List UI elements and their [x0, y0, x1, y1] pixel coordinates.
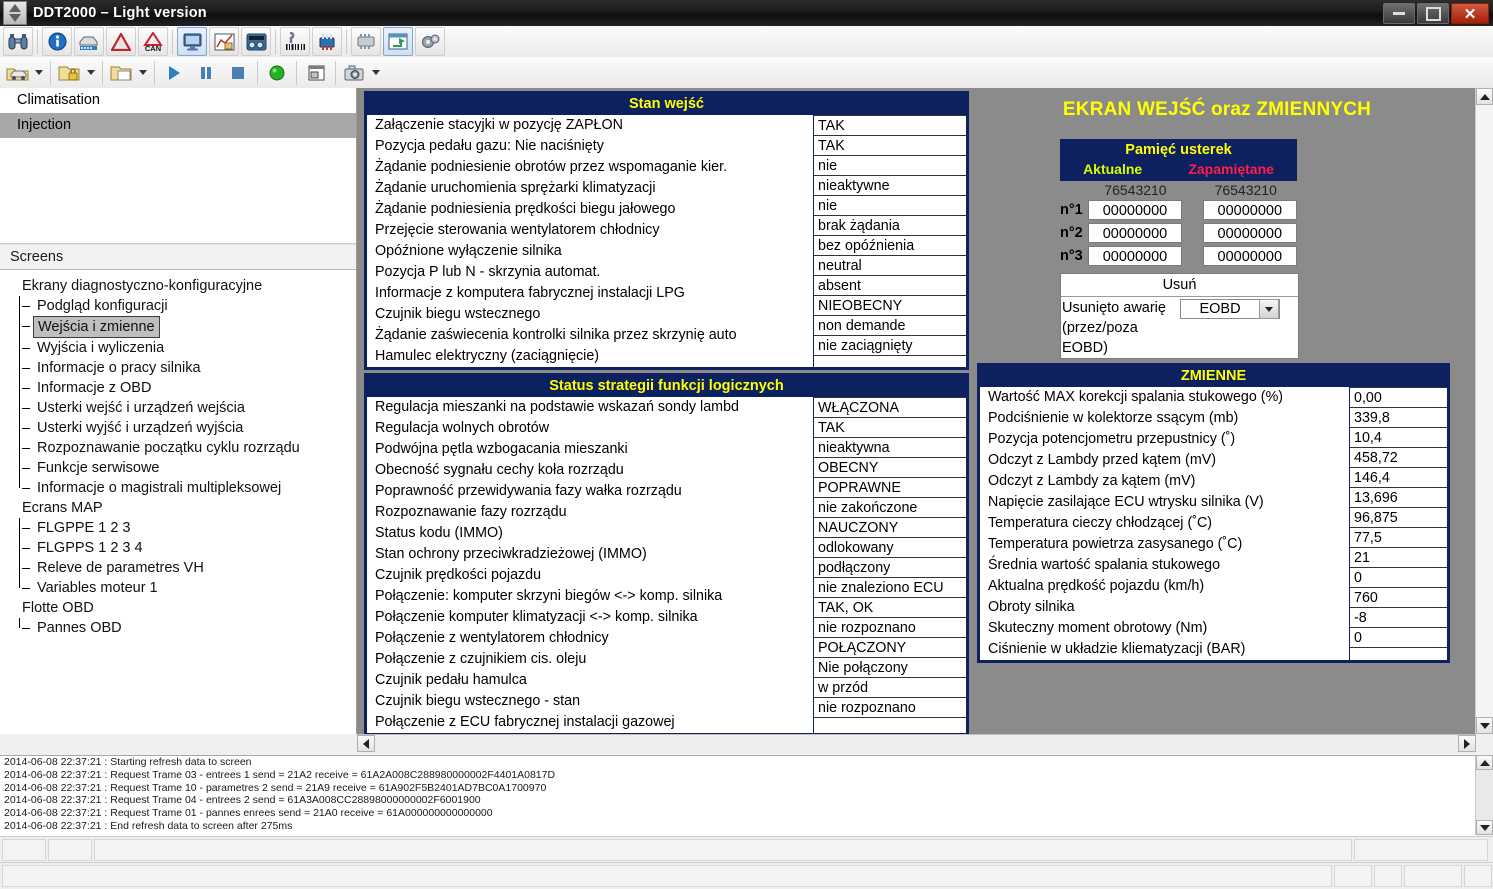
- inputs-row-label: Pozycja pedału gazu: Nie naciśnięty: [367, 136, 813, 157]
- connector-icon[interactable]: [312, 27, 342, 56]
- inputs-label-column: Załączenie stacyjki w pozycję ZAPŁON Poz…: [367, 115, 813, 367]
- logic-row-label: Regulacja wolnych obrotów: [367, 418, 813, 439]
- tree-item-label: Wejścia i zmienne: [33, 316, 160, 338]
- logic-panel-body: Regulacja mieszanki na podstawie wskazań…: [367, 397, 966, 733]
- window-layout-icon[interactable]: [301, 58, 331, 87]
- logic-row-label: Podwójna pętla wzbogacania mieszanki: [367, 439, 813, 460]
- warning-icon[interactable]: [106, 27, 136, 56]
- logic-row-label: Regulacja mieszanki na podstawie wskazań…: [367, 397, 813, 418]
- log-line: 2014-06-08 22:37:21 : Request Trame 03 -…: [0, 769, 1476, 782]
- log-scroll-up-button[interactable]: [1476, 755, 1493, 770]
- inputs-row-value: neutral: [814, 255, 966, 276]
- tree-group-ecrans-map: FLGPPE 1 2 3 FLGPPS 1 2 3 4 Releve de pa…: [0, 518, 356, 598]
- log-line: 2014-06-08 22:37:21 : Request Trame 04 -…: [0, 794, 1476, 807]
- fault-memory-current-field[interactable]: 00000000: [1088, 246, 1182, 266]
- variables-panel: ZMIENNE Wartość MAX korekcji spalania st…: [977, 363, 1450, 663]
- left-sidebar: Climatisation Injection Screens Ekrany d…: [0, 88, 357, 734]
- main-toolbar: CAN: [0, 26, 1493, 58]
- tree-item-pannes-obd[interactable]: Pannes OBD: [22, 618, 356, 638]
- tree-item-label: Informacje o pracy silnika: [34, 358, 204, 378]
- tree-group-flotte-obd: Pannes OBD: [0, 618, 356, 638]
- main-horizontal-scrollbar[interactable]: [357, 734, 1476, 753]
- inputs-row-label: Hamulec elektryczny (zaciągnięcie): [367, 346, 813, 367]
- clear-faults-row: Usunięto awarię (przez/poza EOBD) EOBD: [1061, 297, 1298, 358]
- inputs-row-label: Przejęcie sterowania wentylatorem chłodn…: [367, 220, 813, 241]
- status-led-icon[interactable]: [262, 58, 292, 87]
- logic-row-value: OBECNY: [814, 457, 966, 478]
- status-bar-lower: [0, 862, 1493, 889]
- inputs-row-label: Informacje z komputera fabrycznej instal…: [367, 283, 813, 304]
- logic-row-label: Status kodu (IMMO): [367, 523, 813, 544]
- chevron-down-icon[interactable]: [139, 70, 147, 75]
- status-cell: [1404, 865, 1462, 887]
- logic-row-label: Poprawność przewidywania fazy wałka rozr…: [367, 481, 813, 502]
- logic-row-value: TAK, OK: [814, 597, 966, 618]
- inputs-row-value: TAK: [814, 135, 966, 156]
- gauges-icon[interactable]: [241, 27, 271, 56]
- tree-item-usterki-wyjsc[interactable]: Usterki wyjść i urządzeń wyjścia: [22, 418, 356, 438]
- logic-row-value: TAK: [814, 417, 966, 438]
- variables-row-label: Podciśnienie w kolektorze ssącym (mb): [980, 408, 1349, 429]
- status-cell: [1334, 865, 1372, 887]
- inputs-row-label: Czujnik biegu wstecznego: [367, 304, 813, 325]
- variables-row-value: 146,4: [1350, 467, 1447, 488]
- logic-row-value: POŁĄCZONY: [814, 637, 966, 658]
- status-bar-upper: [0, 836, 1493, 863]
- toolbar-separator: [151, 61, 158, 85]
- inputs-row-value: nie: [814, 155, 966, 176]
- info-icon[interactable]: [42, 27, 72, 56]
- fault-memory-row: n°1 00000000 00000000: [1060, 199, 1297, 220]
- toolbar-separator: [272, 30, 279, 54]
- vertical-scroll-track[interactable]: [1476, 105, 1493, 717]
- inputs-row-value: NIEOBECNY: [814, 295, 966, 316]
- scroll-left-button[interactable]: [357, 735, 375, 752]
- toolbar-separator: [343, 30, 350, 54]
- gears-icon[interactable]: [415, 27, 445, 56]
- inputs-panel-title: Stan wejść: [367, 94, 966, 115]
- variables-row-label: Odczyt z Lambdy za kątem (mV): [980, 471, 1349, 492]
- app-logo-icon: [3, 1, 27, 25]
- tree-item-label: Variables moteur 1: [34, 578, 161, 598]
- status-cell: [2, 839, 46, 861]
- tree-item-podglad-konfiguracji[interactable]: Podgląd konfiguracji: [22, 296, 356, 316]
- logic-row-label: Połączenie z czujnikiem cis. oleju: [367, 649, 813, 670]
- ecu-list[interactable]: Climatisation Injection: [0, 88, 356, 244]
- screens-section-header: Screens: [0, 244, 356, 270]
- open-vehicle-icon[interactable]: [3, 58, 33, 87]
- can-warning-icon[interactable]: CAN: [138, 27, 168, 56]
- fault-memory-stored-field[interactable]: 00000000: [1203, 223, 1297, 243]
- bit-header-left: 76543210: [1084, 181, 1187, 199]
- variables-panel-title: ZMIENNE: [980, 366, 1447, 387]
- pause-icon[interactable]: [191, 58, 221, 87]
- log-line: 2014-06-08 22:37:21 : Request Trame 10 -…: [0, 782, 1476, 795]
- fault-memory-title: Pamięć usterek: [1060, 141, 1297, 160]
- tree-item-label: Releve de parametres VH: [34, 558, 207, 578]
- logic-panel-title: Status strategii funkcji logicznych: [367, 376, 966, 397]
- inputs-row-value: absent: [814, 275, 966, 296]
- inputs-row-value: bez opóźnienia: [814, 235, 966, 256]
- stop-icon[interactable]: [223, 58, 253, 87]
- logic-row-value: w przód: [814, 677, 966, 698]
- tree-item-wyjscia-i-wyliczenia[interactable]: Wyjścia i wyliczenia: [22, 338, 356, 358]
- logic-row-value: nie znaleziono ECU: [814, 577, 966, 598]
- variables-row-value: 458,72: [1350, 447, 1447, 468]
- inputs-row-value: non demande: [814, 315, 966, 336]
- logic-row-value: nieaktywna: [814, 437, 966, 458]
- fault-memory-bit-headers: 76543210 76543210: [1060, 181, 1297, 199]
- logic-label-column: Regulacja mieszanki na podstawie wskazań…: [367, 397, 813, 733]
- variables-row-value: 21: [1350, 547, 1447, 568]
- tree-item-label: FLGPPE 1 2 3: [34, 518, 134, 538]
- variables-row-value: 339,8: [1350, 407, 1447, 428]
- tree-item-label: Podgląd konfiguracji: [34, 296, 171, 316]
- log-line: 2014-06-08 22:37:21 : Starting refresh d…: [0, 756, 1476, 769]
- variables-row-value: 10,4: [1350, 427, 1447, 448]
- tree-item-label: Informacje z OBD: [34, 378, 154, 398]
- tree-item-variables-moteur[interactable]: Variables moteur 1: [22, 578, 356, 598]
- logic-row-value: odlokowany: [814, 537, 966, 558]
- logic-row-label: Rozpoznawanie fazy rozrządu: [367, 502, 813, 523]
- clear-mode-dropdown-value: EOBD: [1181, 301, 1259, 317]
- scroll-up-button[interactable]: [1476, 88, 1493, 105]
- fault-memory-columns: Aktualne Zapamiętane: [1060, 160, 1297, 178]
- tree-item-rozpoznawanie-poczatku-cyklu[interactable]: Rozpoznawanie początku cyklu rozrządu: [22, 438, 356, 458]
- panels-column: Stan wejść Załączenie stacyjki w pozycję…: [364, 91, 969, 734]
- open-folder-icon[interactable]: [107, 58, 137, 87]
- log-console[interactable]: 2014-06-08 22:37:21 : Starting refresh d…: [0, 755, 1476, 836]
- close-button[interactable]: ✕: [1451, 3, 1489, 24]
- variables-row-label: Średnia wartość spalania stukowego: [980, 555, 1349, 576]
- variables-row-value: 0: [1350, 567, 1447, 588]
- fault-memory-col-current: Aktualne: [1083, 160, 1142, 178]
- chevron-down-icon[interactable]: [35, 70, 43, 75]
- status-cell: [1374, 865, 1402, 887]
- tree-item-wejscia-i-zmienne[interactable]: Wejścia i zmienne: [22, 316, 356, 338]
- log-line: 2014-06-08 22:37:21 : Request Trame 01 -…: [0, 807, 1476, 820]
- variables-row-label: Temperatura cieczy chłodzącej (˚C): [980, 513, 1349, 534]
- logic-row-value: WŁĄCZONA: [814, 397, 966, 418]
- variables-row-value: -8: [1350, 607, 1447, 628]
- ddt2000-window: DDT2000 – Light version ✕: [0, 0, 1493, 888]
- chevron-down-icon[interactable]: [87, 70, 95, 75]
- tree-item-label: Wyjścia i wyliczenia: [34, 338, 167, 358]
- toolbar-separator: [99, 61, 106, 85]
- fault-memory-current-field[interactable]: 00000000: [1088, 200, 1182, 220]
- log-scroll-down-button[interactable]: [1476, 820, 1493, 835]
- inputs-row-label: Żądanie uruchomienia sprężarki klimatyza…: [367, 178, 813, 199]
- inputs-row-value: nie: [814, 195, 966, 216]
- variables-row-label: Pozycja potencjometru przepustnicy (˚): [980, 429, 1349, 450]
- diagnostic-screen: Stan wejść Załączenie stacyjki w pozycję…: [357, 88, 1477, 734]
- logic-row-label: Stan ochrony przeciwkradzieżowej (IMMO): [367, 544, 813, 565]
- log-line: 2014-06-08 22:37:21 : End refresh data t…: [0, 820, 1476, 833]
- tree-item-flgpps[interactable]: FLGPPS 1 2 3 4: [22, 538, 356, 558]
- camera-icon[interactable]: [340, 58, 370, 87]
- clear-faults-label-line3: EOBD): [1062, 338, 1180, 358]
- status-cell: [48, 839, 92, 861]
- secondary-toolbar: [0, 57, 1493, 89]
- fault-memory-header: Pamięć usterek Aktualne Zapamiętane: [1060, 139, 1297, 181]
- inputs-row-value: nieaktywne: [814, 175, 966, 196]
- clear-faults-label-line1: Usunięto awarię: [1062, 298, 1180, 318]
- binoculars-icon[interactable]: [3, 27, 33, 56]
- screen-title: EKRAN WEJŚĆ oraz ZMIENNYCH: [977, 99, 1457, 121]
- tree-group-label[interactable]: Ekrany diagnostyczno-konfiguracyjne: [0, 276, 356, 296]
- ecu-list-item-injection[interactable]: Injection: [0, 113, 356, 138]
- fault-memory-block: Pamięć usterek Aktualne Zapamiętane 7654…: [1060, 139, 1297, 268]
- variables-row-value: 0: [1350, 627, 1447, 648]
- variables-value-column: 0,00 339,8 10,4 458,72 146,4 13,696 96,8…: [1349, 387, 1447, 660]
- fault-memory-stored-field[interactable]: 00000000: [1203, 200, 1297, 220]
- clear-mode-dropdown[interactable]: EOBD: [1180, 299, 1280, 319]
- logic-row-value: POPRAWNE: [814, 477, 966, 498]
- fault-memory-col-stored: Zapamiętane: [1188, 160, 1274, 178]
- variables-row-label: Napięcie zasilające ECU wtrysku silnika …: [980, 492, 1349, 513]
- tree-item-label: Pannes OBD: [34, 618, 125, 638]
- chevron-down-icon[interactable]: [1259, 299, 1279, 319]
- tree-item-label: Usterki wyjść i urządzeń wyjścia: [34, 418, 246, 438]
- scroll-right-button[interactable]: [1458, 735, 1476, 752]
- monitor-icon[interactable]: [177, 27, 207, 56]
- tree-group-label[interactable]: Flotte OBD: [0, 598, 356, 618]
- inputs-row-value: brak żądania: [814, 215, 966, 236]
- toolbar-separator: [169, 30, 176, 54]
- tree-item-funkcje-serwisowe[interactable]: Funkcje serwisowe: [22, 458, 356, 478]
- variables-row-label: Odczyt z Lambdy przed kątem (mV): [980, 450, 1349, 471]
- inputs-value-column: TAK TAK nie nieaktywne nie brak żądania …: [813, 115, 966, 367]
- svg-text:CAN: CAN: [145, 44, 161, 51]
- logic-row-value: Nie połączony: [814, 657, 966, 678]
- maximize-button[interactable]: [1417, 3, 1449, 24]
- inputs-row-value: TAK: [814, 115, 966, 136]
- variables-panel-body: Wartość MAX korekcji spalania stukowego …: [980, 387, 1447, 660]
- logic-row-value: nie rozpoznano: [814, 617, 966, 638]
- window-title: DDT2000 – Light version: [33, 5, 207, 21]
- fault-memory-stored-field[interactable]: 00000000: [1203, 246, 1297, 266]
- fault-memory-row: n°3 00000000 00000000: [1060, 245, 1297, 266]
- variables-row-value: 77,5: [1350, 527, 1447, 548]
- main-vertical-scrollbar[interactable]: [1475, 88, 1493, 734]
- tree-item-label: Informacje o magistrali multipleksowej: [34, 478, 284, 498]
- logic-row-label: Czujnik prędkości pojazdu: [367, 565, 813, 586]
- fault-memory-row: n°2 00000000 00000000: [1060, 222, 1297, 243]
- clear-faults-label-line2: (przez/poza: [1062, 318, 1180, 338]
- logic-strategy-panel: Status strategii funkcji logicznych Regu…: [364, 373, 969, 734]
- logic-row-value: podłączony: [814, 557, 966, 578]
- variables-row-value: 96,875: [1350, 507, 1447, 528]
- bit-header-right: 76543210: [1194, 181, 1297, 199]
- variables-row-value: 0,00: [1350, 387, 1447, 408]
- scroll-down-button[interactable]: [1476, 717, 1493, 734]
- logic-row-label: Czujnik biegu wstecznego - stan: [367, 691, 813, 712]
- inputs-row-label: Żądanie zaświecenia kontrolki silnika pr…: [367, 325, 813, 346]
- variables-row-label: Skuteczny moment obrotowy (Nm): [980, 618, 1349, 639]
- variables-row-label: Obroty silnika: [980, 597, 1349, 618]
- inputs-panel-body: Załączenie stacyjki w pozycję ZAPŁON Poz…: [367, 115, 966, 367]
- variables-row-label: Wartość MAX korekcji spalania stukowego …: [980, 387, 1349, 408]
- inputs-panel: Stan wejść Załączenie stacyjki w pozycję…: [364, 91, 969, 370]
- variables-row-label: Aktualna prędkość pojazdu (km/h): [980, 576, 1349, 597]
- export-window-icon[interactable]: [383, 27, 413, 56]
- tree-item-usterki-wejsc[interactable]: Usterki wejść i urządzeń wejścia: [22, 398, 356, 418]
- logic-row-value: nie zakończone: [814, 497, 966, 518]
- clear-faults-label: Usunięto awarię (przez/poza EOBD): [1062, 298, 1180, 358]
- status-cell-message: [2, 865, 1332, 887]
- ecu-list-item-climatisation[interactable]: Climatisation: [0, 88, 356, 113]
- play-icon[interactable]: [159, 58, 189, 87]
- status-cell: [1464, 865, 1492, 887]
- inputs-row-label: Załączenie stacyjki w pozycję ZAPŁON: [367, 115, 813, 136]
- tree-item-informacje-o-pracy-silnika[interactable]: Informacje o pracy silnika: [22, 358, 356, 378]
- fault-memory-row-index: n°2: [1060, 225, 1088, 241]
- clear-faults-button[interactable]: Usuń: [1061, 274, 1298, 297]
- tree-item-label: Funkcje serwisowe: [34, 458, 163, 478]
- window-controls: ✕: [1383, 3, 1489, 24]
- tree-group-diagnostic: Podgląd konfiguracji Wejścia i zmienne W…: [0, 296, 356, 498]
- inputs-row-label: Żądanie podniesienie obrotów przez wspom…: [367, 157, 813, 178]
- variables-row-value: 760: [1350, 587, 1447, 608]
- logic-row-label: Połączenie: komputer skrzyni biegów <-> …: [367, 586, 813, 607]
- toolbar-separator: [293, 61, 300, 85]
- logic-row-label: Czujnik pedału hamulca: [367, 670, 813, 691]
- graph-icon[interactable]: [209, 27, 239, 56]
- vehicle-icon[interactable]: [74, 27, 104, 56]
- title-bar: DDT2000 – Light version ✕: [0, 0, 1493, 26]
- variables-row-value: 13,696: [1350, 487, 1447, 508]
- variables-label-column: Wartość MAX korekcji spalania stukowego …: [980, 387, 1349, 660]
- inputs-row-label: Żądanie podniesienia prędkości biegu jał…: [367, 199, 813, 220]
- inputs-row-label: Opóźnione wyłączenie silnika: [367, 241, 813, 262]
- variables-row-label: Ciśnienie w układzie kliematyzacji (BAR): [980, 639, 1349, 660]
- tree-item-informacje-z-obd[interactable]: Informacje z OBD: [22, 378, 356, 398]
- toolbar-separator: [47, 61, 54, 85]
- tree-item-label: FLGPPS 1 2 3 4: [34, 538, 146, 558]
- logic-row-label: Obecność sygnału cechy koła rozrządu: [367, 460, 813, 481]
- tree-item-releve-de-parametres[interactable]: Releve de parametres VH: [22, 558, 356, 578]
- logic-row-value: NAUCZONY: [814, 517, 966, 538]
- open-lock-icon[interactable]: [55, 58, 85, 87]
- logic-row-value: nie rozpoznano: [814, 697, 966, 718]
- screens-tree: Ekrany diagnostyczno-konfiguracyjne Podg…: [0, 270, 356, 638]
- tree-item-informacje-o-magistrali[interactable]: Informacje o magistrali multipleksowej: [22, 478, 356, 498]
- toolbar-separator: [254, 61, 261, 85]
- log-vertical-scrollbar[interactable]: [1475, 755, 1493, 835]
- tree-group-label[interactable]: Ecrans MAP: [0, 498, 356, 518]
- barcode-icon[interactable]: [280, 27, 310, 56]
- fault-memory-current-field[interactable]: 00000000: [1088, 223, 1182, 243]
- status-cell-message: [94, 839, 1352, 861]
- minimize-button[interactable]: [1383, 3, 1415, 24]
- status-cell-right: [1354, 839, 1488, 861]
- logic-row-label: Połączenie komputer klimatyzacji <-> kom…: [367, 607, 813, 628]
- ecu-chip-icon[interactable]: [351, 27, 381, 56]
- toolbar-separator: [332, 61, 339, 85]
- fault-memory-row-index: n°3: [1060, 248, 1088, 264]
- chevron-down-icon[interactable]: [372, 70, 380, 75]
- variables-row-label: Temperatura powietrza zasysanego (˚C): [980, 534, 1349, 555]
- inputs-row-label: Pozycja P lub N - skrzynia automat.: [367, 262, 813, 283]
- logic-row-label: Połączenie z ECU fabrycznej instalacji g…: [367, 712, 813, 733]
- logic-value-column: WŁĄCZONA TAK nieaktywna OBECNY POPRAWNE …: [813, 397, 966, 733]
- inputs-row-value: nie zaciągnięty: [814, 335, 966, 356]
- clear-faults-block: Usuń Usunięto awarię (przez/poza EOBD) E…: [1060, 273, 1299, 359]
- logic-row-label: Połączenie z wentylatorem chłodnicy: [367, 628, 813, 649]
- tree-item-label: Usterki wejść i urządzeń wejścia: [34, 398, 248, 418]
- fault-memory-row-index: n°1: [1060, 202, 1088, 218]
- tree-item-flgppe[interactable]: FLGPPE 1 2 3: [22, 518, 356, 538]
- toolbar-separator: [34, 30, 41, 54]
- tree-item-label: Rozpoznawanie początku cyklu rozrządu: [34, 438, 303, 458]
